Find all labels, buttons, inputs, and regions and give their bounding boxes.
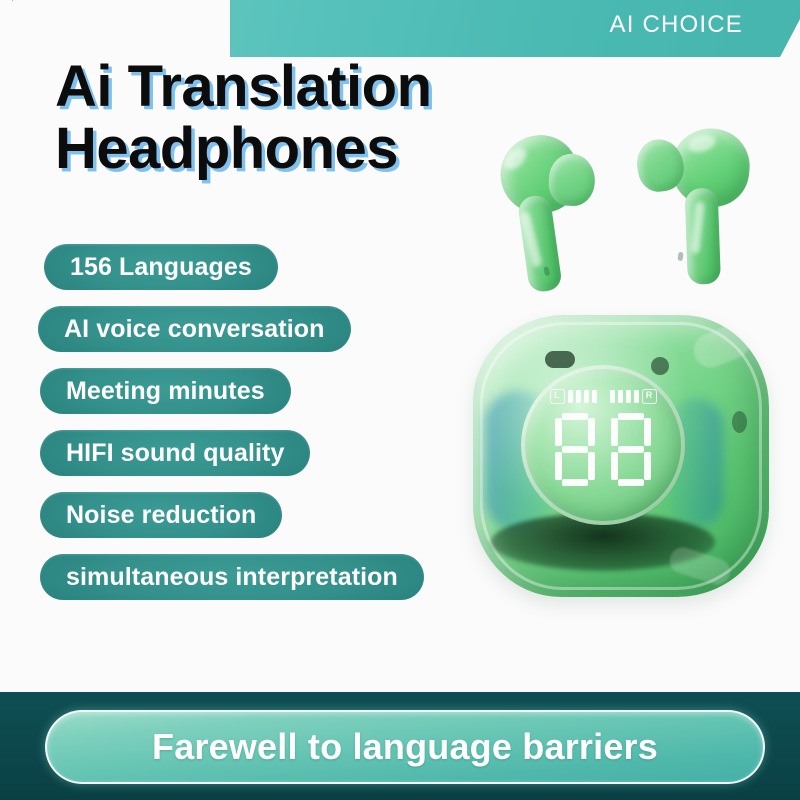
tagline-pill: Farewell to language barriers — [45, 710, 765, 784]
seven-segment-digit — [609, 413, 653, 487]
segment-b — [644, 418, 651, 446]
segment-g — [618, 446, 644, 453]
battery-bar-row: L R — [521, 389, 685, 404]
earbud-microphone-icon — [678, 252, 684, 261]
right-channel-marker: R — [642, 389, 657, 404]
case-vent-port — [545, 351, 575, 368]
footer-bar: Farewell to language barriers — [0, 692, 800, 800]
feature-pill-noise-reduction: Noise reduction — [40, 492, 282, 538]
battery-bar — [592, 390, 597, 403]
left-channel-marker: L — [550, 389, 565, 404]
product-image: L R — [455, 125, 800, 625]
segment-b — [588, 418, 595, 446]
tagline-text: Farewell to language barriers — [152, 726, 658, 768]
segment-d — [562, 479, 588, 486]
battery-bar — [584, 390, 589, 403]
case-sensor-dot — [651, 357, 669, 375]
earbud-ear-tip — [547, 152, 597, 207]
header-banner-curve — [0, 0, 230, 57]
segment-g — [562, 446, 588, 453]
battery-led-display: L R — [521, 365, 685, 525]
segment-f — [555, 418, 562, 446]
battery-bar — [576, 390, 581, 403]
segment-c — [644, 452, 651, 480]
battery-bar — [634, 390, 639, 403]
ai-choice-badge: AI CHOICE — [610, 10, 743, 40]
battery-bar — [610, 390, 615, 403]
title-line-1: Ai Translation — [55, 56, 575, 118]
segment-c — [588, 452, 595, 480]
feature-pill-simultaneous-interpretation: simultaneous interpretation — [40, 554, 424, 600]
battery-bar — [568, 390, 573, 403]
left-earbud-icon — [477, 121, 633, 310]
segment-a — [618, 413, 644, 420]
battery-bar — [618, 390, 623, 403]
feature-pill-meeting-minutes: Meeting minutes — [40, 368, 291, 414]
feature-pill-languages: 156 Languages — [44, 244, 278, 290]
segment-a — [562, 413, 588, 420]
segment-e — [611, 452, 618, 480]
battery-bar — [626, 390, 631, 403]
segment-e — [555, 452, 562, 480]
case-side-button — [732, 411, 747, 433]
right-earbud-icon — [625, 121, 762, 298]
charging-case: L R — [473, 315, 769, 597]
feature-pill-hifi-sound-quality: HIFI sound quality — [40, 430, 310, 476]
battery-percent-digits — [521, 413, 685, 487]
product-poster: AI CHOICE Ai Translation Headphones 156 … — [0, 0, 800, 800]
feature-pill-ai-voice-conversation: AI voice conversation — [38, 306, 351, 352]
seven-segment-digit — [553, 413, 597, 487]
segment-f — [611, 418, 618, 446]
segment-d — [618, 479, 644, 486]
